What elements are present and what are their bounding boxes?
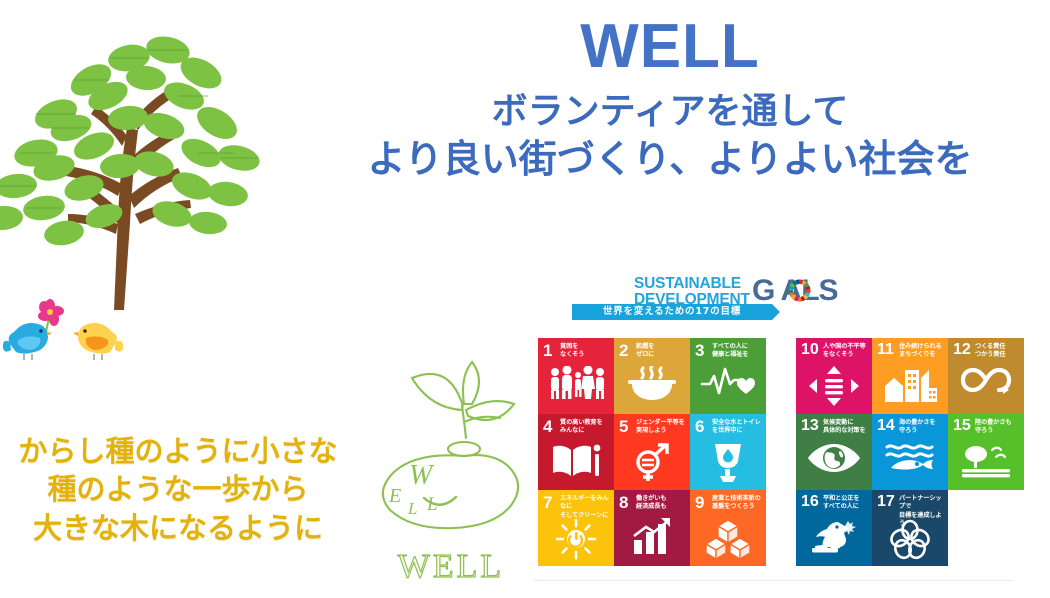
sdg-goal-tile-4[interactable]: 4質の高い教育をみんなに — [538, 414, 614, 490]
header: WELL ボランティアを通して より良い街づくり、よりよい社会を — [300, 14, 1040, 184]
cubes-icon — [690, 518, 766, 562]
sdg-goal-number: 10 — [801, 342, 819, 358]
sdg-goal-tile-14[interactable]: 14海の豊かさを守ろう — [872, 414, 948, 490]
sdg-color-wheel-icon — [787, 278, 812, 303]
eye-earth-icon — [796, 442, 872, 486]
sdg-goal-tile-15[interactable]: 15陸の豊かさも守ろう — [948, 414, 1024, 490]
sdg-goal-caption: 住み続けられるまちづくりを — [899, 343, 945, 360]
sdg-goal-number: 8 — [619, 494, 628, 511]
infinity-icon — [948, 366, 1024, 410]
tagline: ボランティアを通して より良い街づくり、よりよい社会を — [300, 89, 1040, 184]
motto: からし種のように小さな 種のような一歩から 大きな木になるように — [0, 432, 356, 547]
sdg-goal-number: 5 — [619, 418, 628, 435]
birds-illustration — [2, 292, 128, 372]
sdg-banner-text: 世界を変えるための17の目標 — [572, 304, 772, 320]
motto-line-3: 大きな木になるように — [0, 509, 356, 547]
logo-letter-w: W — [409, 460, 435, 491]
sdg-grid-empty-cell — [948, 490, 1024, 566]
slide-canvas: WELL ボランティアを通して より良い街づくり、よりよい社会を からし種のよう… — [0, 0, 1050, 598]
sdg-goal-caption: ジェンダー平等を実現しよう — [636, 419, 687, 436]
water-icon — [690, 442, 766, 486]
logo-letter-l1: L — [426, 494, 438, 515]
sdg-goal-number: 12 — [953, 342, 971, 358]
dove-gavel-icon — [796, 518, 872, 562]
sdg-goal-number: 1 — [543, 342, 552, 359]
sdg-goal-caption: 飢餓をゼロに — [636, 343, 687, 360]
sdg-title-lines: SUSTAINABLE DEVELOPMENT — [634, 276, 750, 308]
tree-bird-icon — [948, 442, 1024, 486]
sdg-goal-number: 9 — [695, 494, 704, 511]
sdg-goal-number: 6 — [695, 418, 704, 435]
sdg-grid-right: 10人や国の不平等をなくそう11住み続けられるまちづくりを12つくる責任つかう責… — [796, 338, 1024, 566]
bowl-icon — [614, 366, 690, 410]
sdg-goal-tile-5[interactable]: 5ジェンダー平等を実現しよう — [614, 414, 690, 490]
sun-icon — [538, 518, 614, 562]
sdg-goal-tile-1[interactable]: 1貧困をなくそう — [538, 338, 614, 414]
sdg-goal-number: 14 — [877, 418, 895, 434]
sdg-goal-caption: 安全な水とトイレを世界中に — [712, 419, 763, 436]
sdg-goal-caption: 貧困をなくそう — [560, 343, 611, 360]
heartbeat-icon — [690, 366, 766, 410]
sdg-title-line-1: SUSTAINABLE — [634, 276, 750, 292]
sdg-goal-number: 17 — [877, 494, 895, 510]
sdg-goal-caption: エネルギーをみんなにそしてクリーンに — [560, 495, 611, 520]
fish-icon — [872, 442, 948, 486]
page-title: WELL — [300, 14, 1040, 79]
sdg-goal-number: 11 — [877, 342, 894, 358]
sdg-goal-caption: 海の豊かさを守ろう — [899, 419, 945, 436]
sdg-goal-caption: 産業と技術革新の基盤をつくろう — [712, 495, 763, 512]
sdg-goal-tile-2[interactable]: 2飢餓をゼロに — [614, 338, 690, 414]
sdg-goal-tile-13[interactable]: 13気候変動に具体的な対策を — [796, 414, 872, 490]
sdg-goal-number: 3 — [695, 342, 704, 359]
well-logo: W E L L — [372, 352, 530, 548]
gender-icon — [614, 442, 690, 486]
city-icon — [872, 366, 948, 410]
sdg-goal-caption: 質の高い教育をみんなに — [560, 419, 611, 436]
tree-illustration — [0, 18, 326, 310]
sdg-goal-caption: 平和と公正をすべての人に — [823, 495, 869, 512]
sdg-panel: SUSTAINABLE DEVELOPMENT G ALS — [534, 268, 1012, 581]
sdg-goal-number: 7 — [543, 494, 552, 511]
sdg-goal-number: 16 — [801, 494, 819, 510]
birds-icon — [2, 292, 128, 372]
sprout-seed-icon: W E L L — [372, 352, 530, 548]
sdg-goal-tile-12[interactable]: 12つくる責任つかう責任 — [948, 338, 1024, 414]
tagline-line-1: ボランティアを通して — [492, 91, 849, 132]
yellow-bird-icon — [73, 323, 123, 360]
tagline-line-2: より良い街づくり、よりよい社会を — [300, 135, 1040, 184]
sdg-goal-tile-17[interactable]: 17パートナーシップで目標を達成しよう — [872, 490, 948, 566]
sdg-goal-tile-10[interactable]: 10人や国の不平等をなくそう — [796, 338, 872, 414]
sdg-banner: 世界を変えるための17の目標 — [572, 304, 772, 320]
sdg-goal-number: 15 — [953, 418, 971, 434]
sdg-goal-tile-11[interactable]: 11住み続けられるまちづくりを — [872, 338, 948, 414]
book-icon — [538, 442, 614, 486]
sdg-goal-caption: すべての人に健康と福祉を — [712, 343, 763, 360]
equals-arrows-icon — [796, 366, 872, 410]
sdg-goal-caption: 気候変動に具体的な対策を — [823, 419, 869, 436]
sdg-goal-caption: つくる責任つかう責任 — [975, 343, 1021, 360]
sdg-goal-tile-6[interactable]: 6安全な水とトイレを世界中に — [690, 414, 766, 490]
sdg-goal-caption: 人や国の不平等をなくそう — [823, 343, 869, 360]
sdg-goal-number: 2 — [619, 342, 628, 359]
blue-bird-icon — [3, 323, 52, 360]
tree-icon — [0, 18, 326, 310]
sdg-goal-tile-3[interactable]: 3すべての人に健康と福祉を — [690, 338, 766, 414]
sdg-goal-tile-9[interactable]: 9産業と技術革新の基盤をつくろう — [690, 490, 766, 566]
motto-line-1: からし種のように小さな — [0, 432, 356, 470]
growth-chart-icon — [614, 518, 690, 562]
motto-line-2: 種のような一歩から — [0, 470, 356, 508]
sdg-goal-tile-8[interactable]: 8働きがいも経済成長も — [614, 490, 690, 566]
sdg-goal-number: 13 — [801, 418, 819, 434]
sdg-goal-caption: 働きがいも経済成長も — [636, 495, 687, 512]
sdg-goal-number: 4 — [543, 418, 552, 435]
rings-icon — [872, 518, 948, 562]
sdg-goal-grids: 1貧困をなくそう2飢餓をゼロに3すべての人に健康と福祉を4質の高い教育をみんなに… — [538, 338, 1008, 578]
logo-letter-l2: L — [407, 499, 417, 518]
sdg-goal-caption: 陸の豊かさも守ろう — [975, 419, 1021, 436]
well-wordmark: WELL — [372, 548, 530, 586]
logo-letter-e: E — [388, 485, 401, 507]
sdg-grid-left: 1貧困をなくそう2飢餓をゼロに3すべての人に健康と福祉を4質の高い教育をみんなに… — [538, 338, 766, 566]
people-icon — [538, 366, 614, 410]
sdg-goal-tile-16[interactable]: 16平和と公正をすべての人に — [796, 490, 872, 566]
sdg-goal-tile-7[interactable]: 7エネルギーをみんなにそしてクリーンに — [538, 490, 614, 566]
